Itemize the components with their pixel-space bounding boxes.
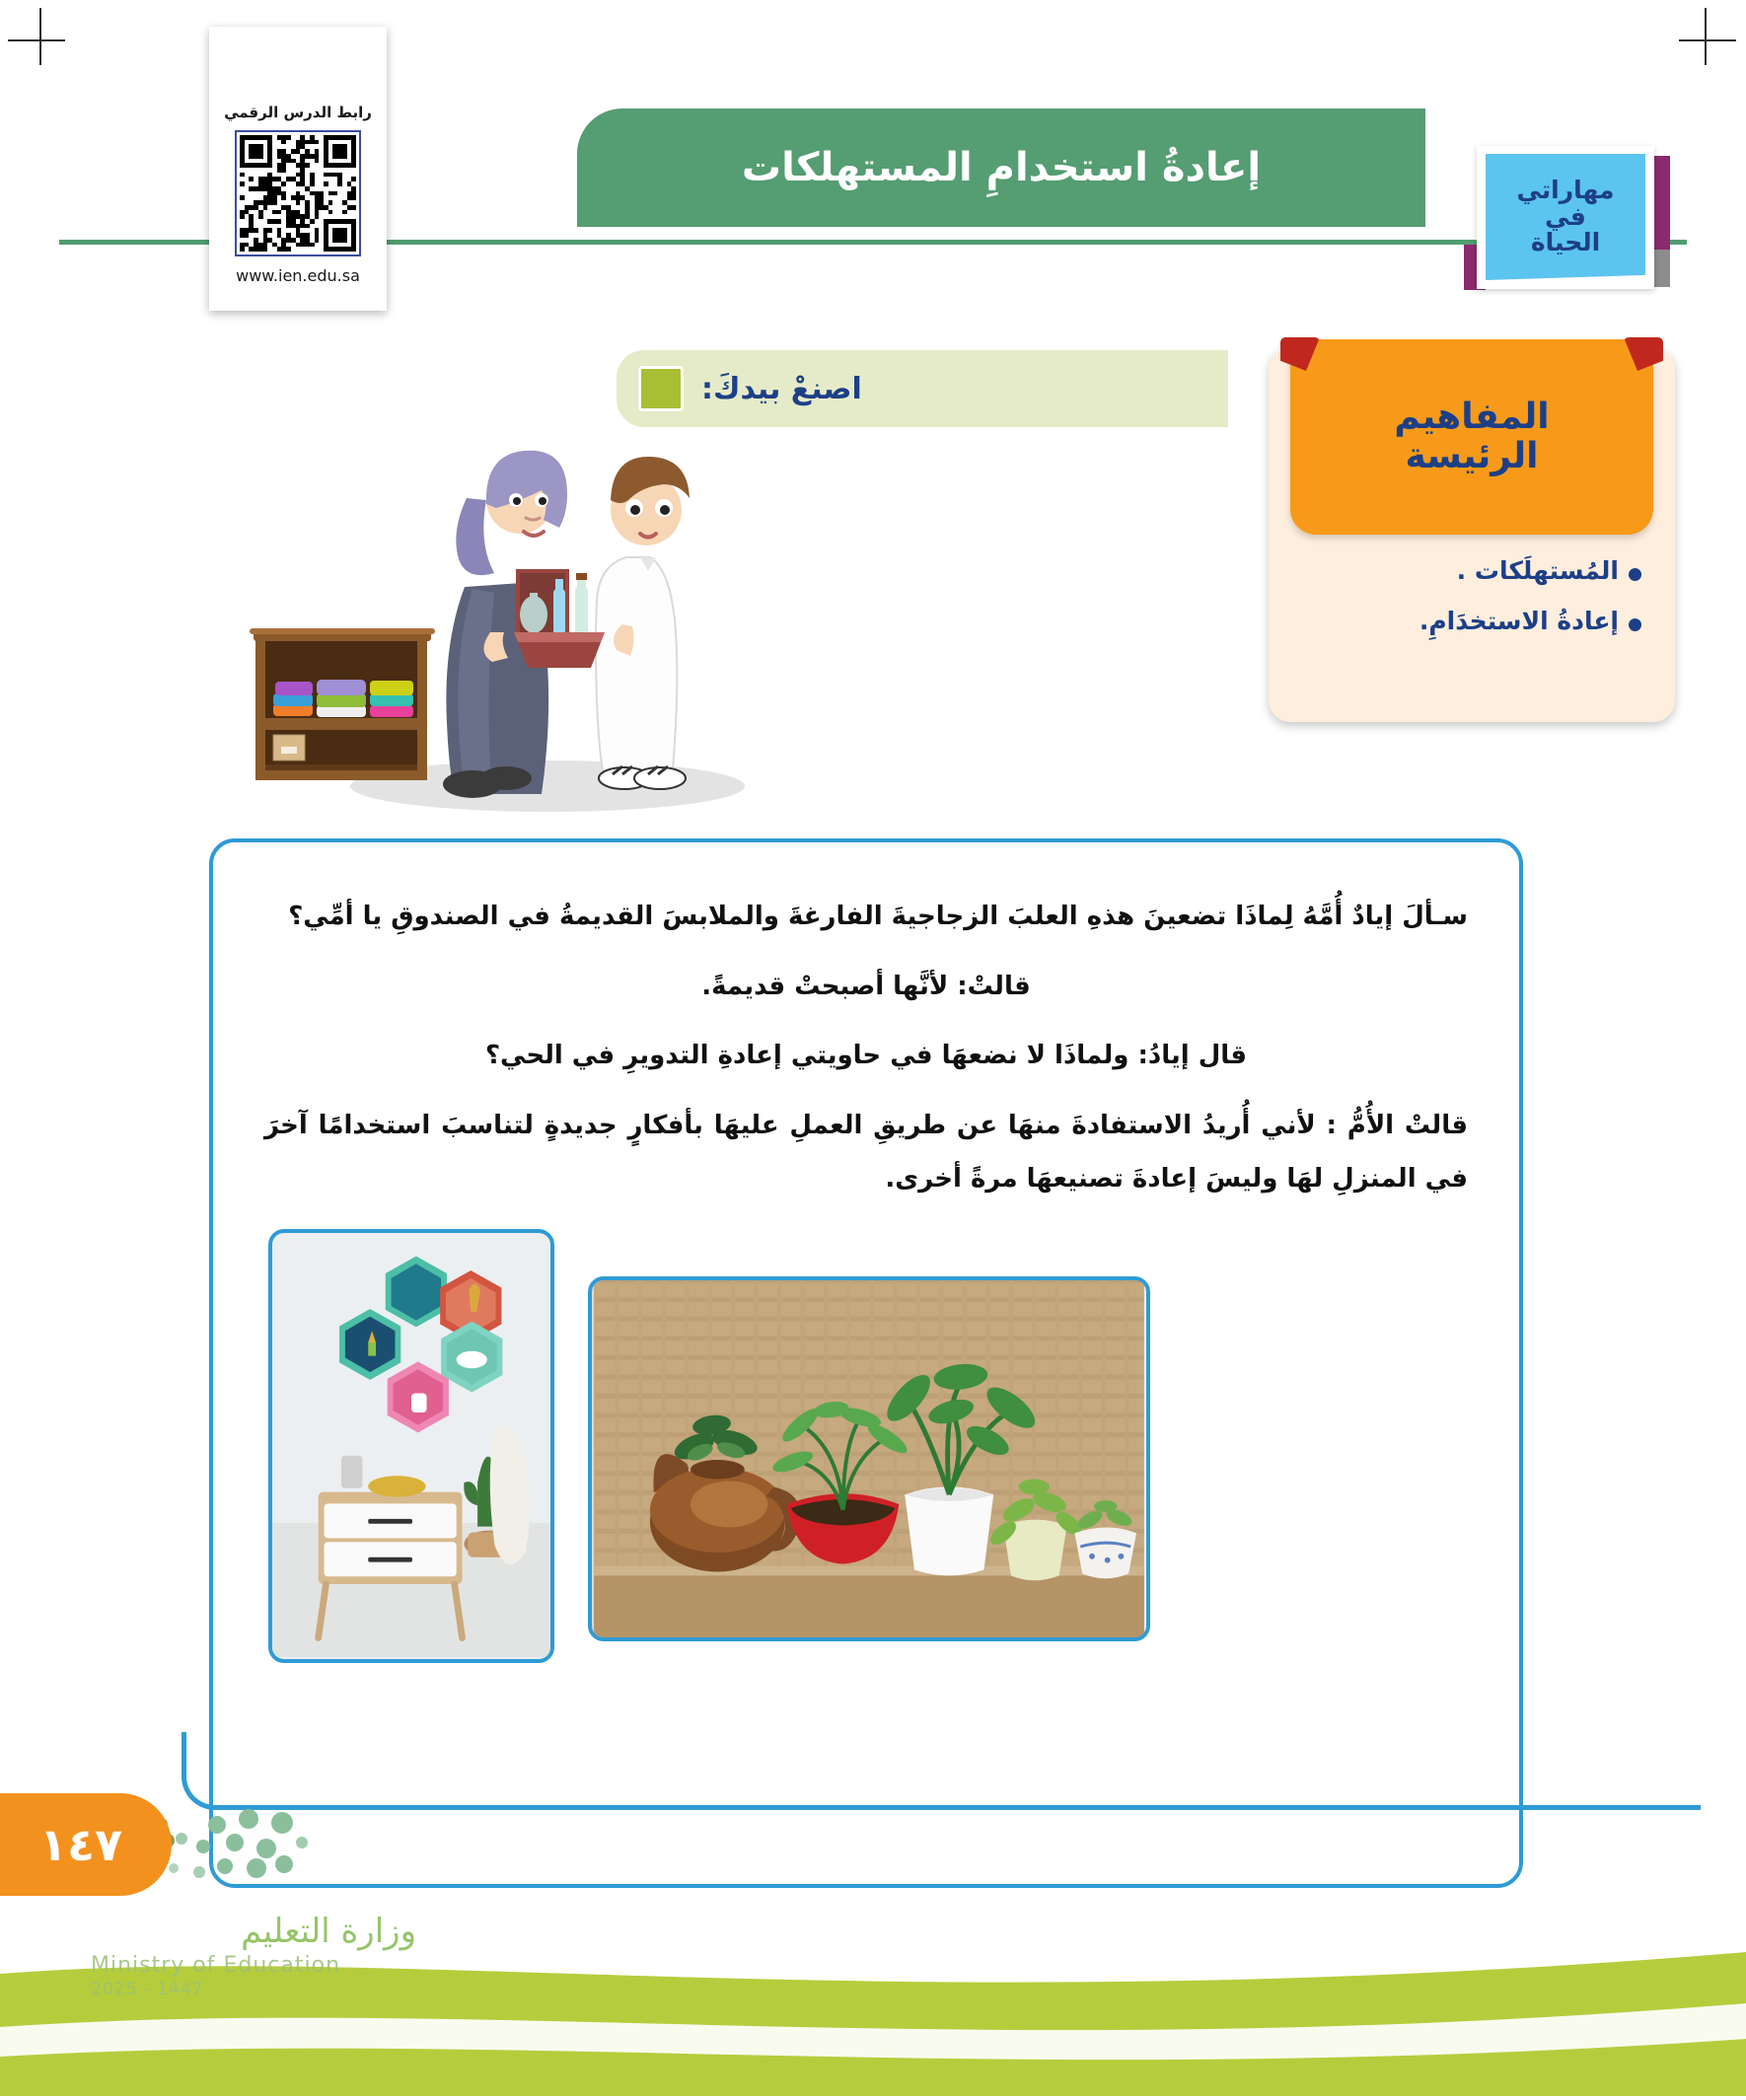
ministry-years: 2025 - 1447 bbox=[91, 1980, 416, 1999]
bullet-icon bbox=[1629, 568, 1641, 581]
story-paragraph: سـألَ إيادٌ أُمَّهُ لِماذَا تضعينَ هذهِ … bbox=[264, 890, 1468, 944]
lesson-illustration bbox=[232, 439, 784, 833]
key-concepts-card: المفاهيم الرئيسة المُستهلَكات . إعادةُ ا… bbox=[1269, 347, 1675, 722]
concept-label: إعادةُ الاستخدَامِ. bbox=[1419, 607, 1619, 635]
list-item: إعادةُ الاستخدَامِ. bbox=[1294, 607, 1641, 635]
make-by-hand-label: اصنعْ بيدكَ: bbox=[701, 372, 862, 406]
ministry-name-ar: وزارة التعليم bbox=[91, 1912, 416, 1951]
shelf-unit bbox=[250, 628, 435, 780]
concepts-heading-line-1: المفاهيم bbox=[1394, 398, 1549, 437]
page-title: إعادةُ استخدامِ المستهلكات bbox=[742, 145, 1261, 190]
lesson-title-banner: إعادةُ استخدامِ المستهلكات bbox=[577, 109, 1425, 227]
crop-mark-top-right-h bbox=[1679, 39, 1736, 41]
qr-label: رابط الدرس الرقمي bbox=[224, 104, 372, 121]
story-paragraph: قال إيادُ: ولماذَا لا نضعهَا في حاويتي إ… bbox=[264, 1029, 1468, 1083]
tab-cyan-face: مهاراتي في الحياة bbox=[1486, 154, 1645, 280]
ministry-name-en: Ministry of Education bbox=[91, 1953, 416, 1978]
concepts-heading-line-2: الرئيسة bbox=[1406, 437, 1539, 476]
boy-figure bbox=[596, 457, 690, 789]
story-paragraph: قالتْ: لأنَّها أصبحتْ قديمةً. bbox=[264, 960, 1468, 1014]
tab-edge-gray bbox=[1653, 250, 1670, 287]
list-item: المُستهلَكات . bbox=[1294, 556, 1641, 585]
story-panel: سـألَ إيادٌ أُمَّهُ لِماذَا تضعينَ هذهِ … bbox=[209, 838, 1523, 1888]
story-paragraph: قالتْ الأُمُّ : لأني أُريدُ الاستفادةَ م… bbox=[264, 1099, 1468, 1206]
tab-line-1: مهاراتي bbox=[1517, 178, 1615, 204]
concept-label: المُستهلَكات . bbox=[1457, 556, 1619, 585]
story-text: سـألَ إيادٌ أُمَّهُ لِماذَا تضعينَ هذهِ … bbox=[213, 842, 1519, 1206]
page-number: ١٤٧ bbox=[39, 1818, 122, 1871]
qr-url: www.ien.edu.sa bbox=[236, 266, 360, 285]
concepts-flap: المفاهيم الرئيسة bbox=[1290, 339, 1653, 535]
tab-line-2: في bbox=[1545, 204, 1586, 231]
crop-mark-top-left-v bbox=[39, 8, 41, 65]
tab-line-3: الحياة bbox=[1531, 230, 1600, 256]
crop-mark-top-left-h bbox=[8, 39, 65, 41]
page-number-badge: ١٤٧ bbox=[0, 1793, 172, 1896]
potted-plants-in-reused-containers-photo bbox=[588, 1276, 1150, 1641]
section-marker-icon bbox=[638, 366, 684, 411]
textbook-page: رابط الدرس الرقمي www.ien.edu.sa إعادةُ … bbox=[0, 0, 1746, 2096]
ministry-logo: وزارة التعليم Ministry of Education 2025… bbox=[91, 1912, 416, 2022]
unit-tab-life-skills[interactable]: مهاراتي في الحياة bbox=[1477, 146, 1670, 289]
make-by-hand-banner: اصنعْ بيدكَ: bbox=[617, 350, 1228, 427]
qr-code-icon[interactable] bbox=[235, 130, 361, 256]
footer-blue-rule bbox=[182, 1732, 1701, 1809]
footer-rule-horizontal bbox=[239, 1805, 1701, 1810]
digital-lesson-qr-card[interactable]: رابط الدرس الرقمي www.ien.edu.sa bbox=[209, 27, 387, 311]
box-of-reusables bbox=[514, 569, 605, 668]
crop-mark-top-right-v bbox=[1705, 8, 1707, 65]
bullet-icon bbox=[1629, 618, 1641, 631]
concepts-list: المُستهلَكات . إعادةُ الاستخدَامِ. bbox=[1294, 556, 1641, 657]
hexagon-wall-shelves-photo bbox=[268, 1229, 554, 1663]
